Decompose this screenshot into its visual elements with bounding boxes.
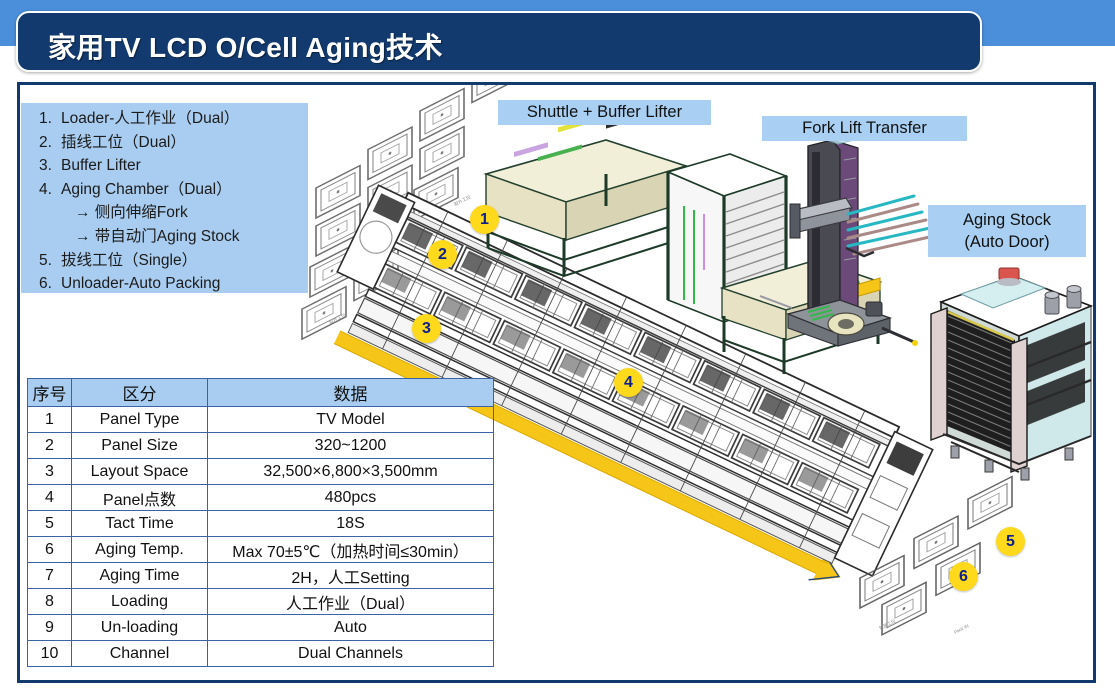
- list-sub-item: → 侧向伸缩Fork: [21, 201, 308, 225]
- cell-value: 人工作业（Dual）: [208, 589, 494, 615]
- cell-item: Aging Time: [72, 563, 208, 589]
- list-item-number: 3.: [39, 154, 61, 178]
- column-header-value: 数据: [208, 379, 494, 407]
- list-item: 5. 拔线工位（Single）: [21, 249, 308, 273]
- table-row: 3 Layout Space 32,500×6,800×3,500mm: [28, 459, 494, 485]
- process-step-list: 1. Loader-人工作业（Dual） 2. 插线工位（Dual） 3. Bu…: [21, 103, 308, 293]
- table-row: 10 Channel Dual Channels: [28, 641, 494, 667]
- list-item-number: 6.: [39, 272, 61, 296]
- page-title: 家用TV LCD O/Cell Aging技术: [48, 26, 443, 66]
- cell-value: Max 70±5℃（加热时间≤30min）: [208, 537, 494, 563]
- cell-value: 480pcs: [208, 485, 494, 511]
- cell-no: 4: [28, 485, 72, 511]
- list-item-number: 1.: [39, 107, 61, 131]
- table-row: 4 Panel点数 480pcs: [28, 485, 494, 511]
- step-badge-4: 4: [614, 368, 643, 397]
- cell-value: 18S: [208, 511, 494, 537]
- callout-label: Fork Lift Transfer: [802, 119, 927, 137]
- callout-label: Aging Stock(Auto Door): [963, 211, 1051, 251]
- table-header-row: 序号 区分 数据: [28, 379, 494, 407]
- cell-no: 7: [28, 563, 72, 589]
- cell-no: 9: [28, 615, 72, 641]
- cell-no: 5: [28, 511, 72, 537]
- table-row: 6 Aging Temp. Max 70±5℃（加热时间≤30min）: [28, 537, 494, 563]
- list-item: 3. Buffer Lifter: [21, 154, 308, 178]
- callout-label: Shuttle + Buffer Lifter: [527, 103, 682, 121]
- spec-table: 序号 区分 数据 1 Panel Type TV Model 2 Panel S…: [27, 378, 494, 667]
- list-item-number: 4.: [39, 178, 61, 202]
- title-bar: 家用TV LCD O/Cell Aging技术: [16, 11, 982, 72]
- step-badge-3: 3: [412, 314, 441, 343]
- cell-no: 3: [28, 459, 72, 485]
- cell-no: 1: [28, 407, 72, 433]
- column-header-no: 序号: [28, 379, 72, 407]
- callout-fork-lift-transfer: Fork Lift Transfer: [762, 116, 967, 141]
- cell-value: TV Model: [208, 407, 494, 433]
- cell-no: 10: [28, 641, 72, 667]
- step-badge-1: 1: [470, 205, 499, 234]
- list-item-number: 2.: [39, 131, 61, 155]
- list-item: 2. 插线工位（Dual）: [21, 131, 308, 155]
- table-row: 2 Panel Size 320~1200: [28, 433, 494, 459]
- cell-no: 8: [28, 589, 72, 615]
- cell-item: Tact Time: [72, 511, 208, 537]
- step-badge-5: 5: [996, 527, 1025, 556]
- list-sub-item: → 带自动门Aging Stock: [21, 225, 308, 249]
- list-item: 1. Loader-人工作业（Dual）: [21, 107, 308, 131]
- cell-value: 2H，人工Setting: [208, 563, 494, 589]
- list-item: 4. Aging Chamber（Dual）: [21, 178, 308, 202]
- cell-value: Dual Channels: [208, 641, 494, 667]
- table-row: 5 Tact Time 18S: [28, 511, 494, 537]
- cell-item: Layout Space: [72, 459, 208, 485]
- cell-no: 6: [28, 537, 72, 563]
- cell-item: Panel点数: [72, 485, 208, 511]
- list-item-label: Unloader-Auto Packing: [61, 272, 220, 296]
- step-badge-2: 2: [428, 240, 457, 269]
- list-item-label: Aging Chamber（Dual）: [61, 178, 232, 202]
- list-item: 6. Unloader-Auto Packing: [21, 272, 308, 296]
- callout-shuttle-buffer-lifter: Shuttle + Buffer Lifter: [498, 100, 711, 125]
- list-item-label: Buffer Lifter: [61, 154, 141, 178]
- cell-value: 32,500×6,800×3,500mm: [208, 459, 494, 485]
- cell-item: Panel Type: [72, 407, 208, 433]
- cell-value: Auto: [208, 615, 494, 641]
- callout-aging-stock: Aging Stock(Auto Door): [928, 205, 1086, 257]
- list-item-number: 5.: [39, 249, 61, 273]
- cell-item: Loading: [72, 589, 208, 615]
- list-item-label: 插线工位（Dual）: [61, 131, 186, 155]
- cell-item: Un-loading: [72, 615, 208, 641]
- table-row: 7 Aging Time 2H，人工Setting: [28, 563, 494, 589]
- column-header-item: 区分: [72, 379, 208, 407]
- list-item-label: Loader-人工作业（Dual）: [61, 107, 239, 131]
- cell-no: 2: [28, 433, 72, 459]
- cell-item: Aging Temp.: [72, 537, 208, 563]
- cell-value: 320~1200: [208, 433, 494, 459]
- cell-item: Channel: [72, 641, 208, 667]
- cell-item: Panel Size: [72, 433, 208, 459]
- table-row: 9 Un-loading Auto: [28, 615, 494, 641]
- table-row: 1 Panel Type TV Model: [28, 407, 494, 433]
- step-badge-6: 6: [949, 562, 978, 591]
- list-item-label: 拔线工位（Single）: [61, 249, 197, 273]
- table-row: 8 Loading 人工作业（Dual）: [28, 589, 494, 615]
